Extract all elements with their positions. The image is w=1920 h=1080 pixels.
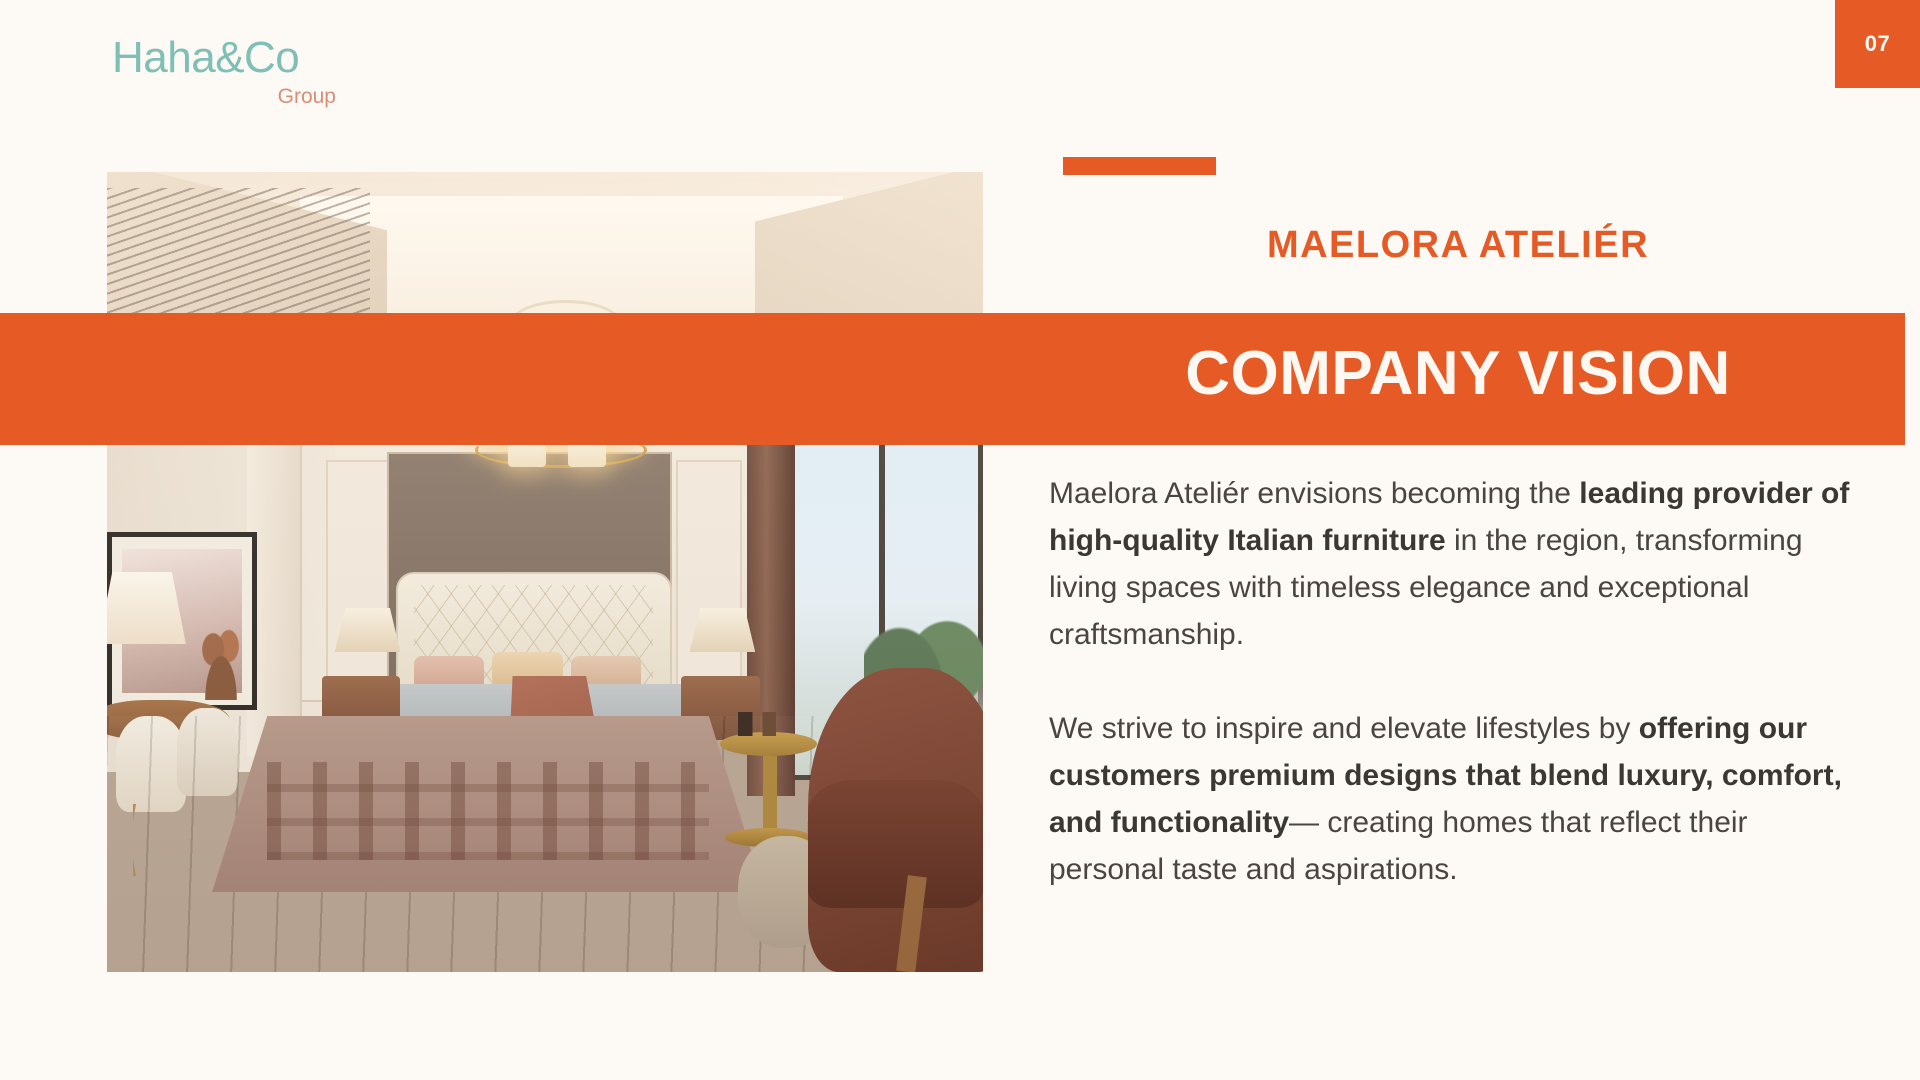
- paragraph-two-part1: We strive to inspire and elevate lifesty…: [1049, 712, 1639, 745]
- page-title: COMPANY VISION: [1063, 338, 1853, 409]
- side-table-stem: [763, 756, 777, 836]
- ceiling-molding-lines: [107, 188, 370, 316]
- brand-logo: Haha&Co Group: [112, 36, 342, 107]
- interior-photo: [107, 172, 983, 972]
- wall-molding-right: [676, 460, 741, 688]
- logo-tagline: Group: [112, 86, 342, 107]
- armchair-seat: [808, 780, 983, 908]
- body-copy: Maelora Ateliér envisions becoming the l…: [1049, 470, 1859, 893]
- table-lamp-left: [335, 608, 401, 652]
- accent-bar: [1063, 157, 1216, 175]
- rug-pattern: [267, 762, 709, 861]
- paragraph-spacer: [1049, 658, 1859, 705]
- photo-scene: [107, 172, 983, 972]
- table-lamp-right: [690, 608, 756, 652]
- potted-plant: [195, 628, 248, 700]
- logo-name: Haha&Co: [112, 36, 342, 80]
- page-number-badge: 07: [1835, 0, 1920, 88]
- paragraph-two: We strive to inspire and elevate lifesty…: [1049, 705, 1859, 893]
- wall-molding-left: [326, 460, 391, 688]
- paragraph-one: Maelora Ateliér envisions becoming the l…: [1049, 470, 1859, 658]
- page-number-text: 07: [1865, 31, 1890, 57]
- area-rug: [212, 716, 764, 892]
- paragraph-one-part1: Maelora Ateliér envisions becoming the: [1049, 477, 1579, 510]
- brand-eyebrow-heading: MAELORA ATELIÉR: [1063, 224, 1853, 267]
- side-table-items: [738, 712, 799, 736]
